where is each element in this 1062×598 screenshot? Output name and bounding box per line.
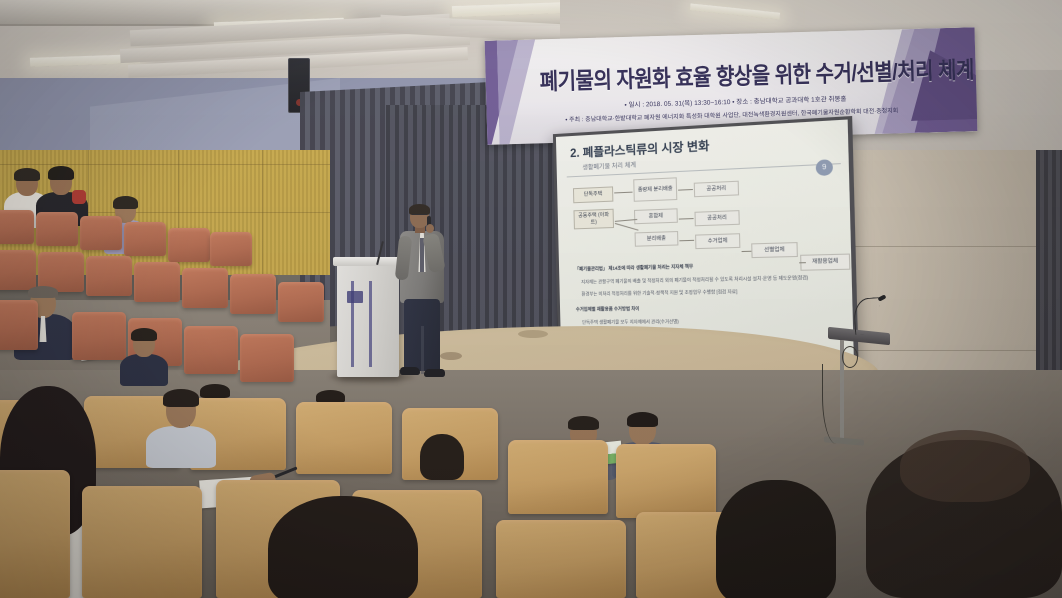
seat	[0, 300, 38, 350]
attendee-mid-a	[120, 330, 168, 386]
seat	[296, 402, 392, 474]
seat	[86, 256, 132, 296]
flow-box: 분리배출	[635, 231, 679, 247]
attendee-mid-right	[420, 434, 464, 480]
person-hair	[28, 286, 58, 298]
flow-connector	[614, 192, 632, 194]
red-item	[72, 190, 86, 204]
conference-hall-photo: 폐기물의 자원화 효율 향상을 위한 수거/선별/처리 체계 전과정 개선 방안…	[0, 0, 1062, 598]
seat	[80, 216, 122, 250]
flow-connector	[742, 251, 752, 252]
person-hair	[268, 496, 418, 598]
flow-connector	[799, 262, 806, 263]
seat	[0, 210, 34, 244]
presenter-shoe	[424, 369, 445, 377]
seat	[0, 470, 70, 598]
seat	[36, 212, 78, 246]
slide-bullet: 수거업체별 재활용품 수거방법 차이	[576, 306, 640, 313]
person-hair	[716, 480, 836, 598]
seat	[616, 444, 716, 518]
presenter	[396, 206, 450, 378]
flow-box: 공공처리	[694, 181, 739, 198]
flow-connector	[679, 218, 694, 220]
person-hair	[131, 328, 157, 341]
presenter-shoe	[400, 367, 420, 375]
podium-top	[333, 257, 403, 266]
banner-title: 폐기물의 자원화 효율 향상을 위한 수거/선별/처리 체계 전과정 개선 방안	[539, 52, 930, 96]
attendee-foreground-balding	[866, 430, 1062, 598]
slide-bullet: 환경부는 미처리 적정처리를 위한 기술적·정책적 지원 및 조정업무 수행함 …	[581, 289, 737, 298]
attendee-foreground-center	[268, 496, 418, 598]
presenter-leg-split	[421, 326, 424, 374]
seat	[230, 274, 276, 314]
podium-stripe	[369, 281, 372, 367]
person-hair	[113, 196, 138, 209]
seat	[496, 520, 626, 598]
seat	[240, 334, 294, 382]
flow-box: 단독주택	[573, 186, 613, 203]
podium	[337, 263, 399, 377]
person-hair	[627, 412, 658, 427]
attendee-note-taker	[146, 392, 216, 468]
flow-box: 선별업체	[751, 242, 798, 258]
slide-title: 2. 폐플라스틱류의 시장 변화	[570, 137, 710, 161]
podium-logo	[347, 291, 363, 303]
wall-seam	[836, 246, 1062, 247]
attendee-foreground-right	[716, 480, 836, 598]
slide-subtitle: 생활폐기물 처리 체계	[582, 160, 636, 172]
person-body	[120, 354, 168, 386]
seat	[124, 222, 166, 256]
seat	[72, 312, 126, 360]
person-hair	[420, 434, 464, 480]
flow-box: 공공처리	[694, 210, 739, 226]
slide-bullet: 지자체는 관할구역 폐기물의 배출 및 적정처리 외의 폐기물이 적정처리될 수…	[581, 275, 808, 286]
person-hair	[568, 416, 599, 430]
seat	[82, 486, 202, 598]
flow-box: 종량제 분리배출	[633, 177, 677, 202]
flow-box: 공동주택 (아파트)	[573, 209, 614, 230]
seat	[134, 262, 180, 302]
seat	[508, 440, 608, 514]
person-hair	[48, 166, 74, 180]
flow-box: 혼합제	[634, 208, 678, 224]
person-body	[146, 426, 216, 468]
glasses-icon	[412, 214, 427, 217]
flow-connector	[678, 189, 693, 191]
seat	[182, 268, 228, 308]
seat	[278, 282, 324, 322]
slide-bullet: 「폐기물관리법」 제14조에 따라 생활폐기물 처리는 지자체 책무	[575, 264, 693, 273]
flow-box: 수거업체	[695, 233, 740, 249]
slide-bullet: 단독주택 생활폐기물 모두 지자체에서 관리(수거선별)	[582, 319, 679, 326]
seat	[168, 228, 210, 262]
person-hair	[163, 389, 199, 407]
flow-box: 재활용업체	[800, 254, 850, 271]
stage-floor-mark	[518, 330, 548, 338]
slide-page-badge: 9	[816, 159, 833, 176]
presenter-hand	[426, 224, 434, 233]
cable	[822, 364, 846, 444]
seat	[210, 232, 252, 266]
flow-connector	[679, 240, 694, 241]
person-scalp	[900, 430, 1030, 502]
seat	[184, 326, 238, 374]
seat	[0, 250, 36, 290]
